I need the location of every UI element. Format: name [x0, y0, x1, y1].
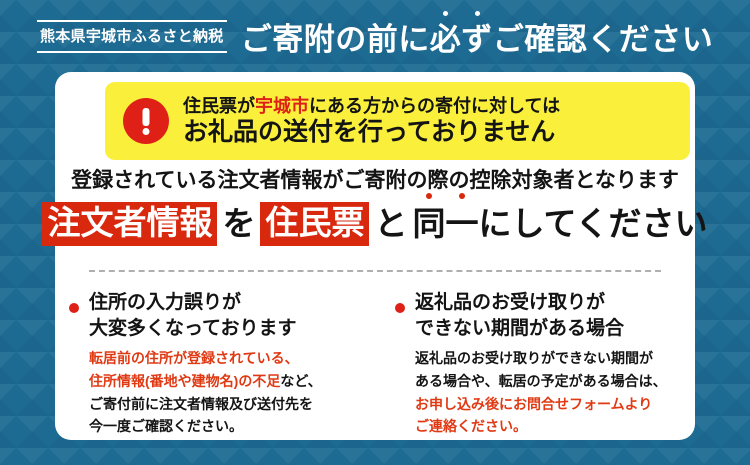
banner-header: 熊本県宇城市ふるさと納税 ご寄附の前に必ずご確認ください [0, 0, 750, 72]
note-text: 転居前の住所が登録されている、 住所情報(番地や建物名)の不足など、 ご寄付前に… [89, 347, 385, 438]
page-title-pre: ご寄附の前に [241, 24, 430, 55]
note-heading-line-2: 大変多くなっております [89, 316, 385, 342]
bullet-dot-icon [395, 303, 405, 313]
alert-line-1-b: にある方からの寄付に対しては [309, 96, 560, 116]
chip-residence-card: 住民票 [260, 202, 369, 246]
content-card: 住民票が宇城市にある方からの寄付に対しては お礼品の送付を行っておりません 登録… [55, 72, 695, 440]
emphasis-dots-icon [430, 11, 493, 16]
note-text-line-1: 転居前の住所が登録されている、 [89, 350, 299, 366]
middle-tail-emphasis-text: 同一 [412, 205, 478, 242]
note-text-line-4: 今一度ご確認ください。 [89, 418, 243, 434]
exclamation-circle-icon [123, 98, 169, 144]
note-text-line-2-suffix: など、 [280, 373, 321, 389]
bullet-dot-icon [69, 303, 79, 313]
page-title-emphasis-text: 必ず [430, 22, 493, 57]
note-heading-line-1: 返礼品のお受け取りが [415, 290, 695, 316]
middle-tail-post: にしてください [478, 204, 707, 244]
alert-line-1: 住民票が宇城市にある方からの寄付に対しては [183, 95, 560, 118]
note-text-line-1: 返礼品のお受け取りができない期間が [415, 350, 653, 366]
notes-columns: 住所の入力誤りが 大変多くなっております 転居前の住所が登録されている、 住所情… [55, 290, 695, 438]
alert-line-1-a: 住民票が [183, 96, 255, 116]
note-column-address: 住所の入力誤りが 大変多くなっております 転居前の住所が登録されている、 住所情… [55, 290, 385, 438]
note-text: 返礼品のお受け取りができない期間が ある場合や、転居の予定がある場合は、 お申し… [415, 347, 695, 438]
brand-block: 熊本県宇城市ふるさと納税 [37, 13, 227, 59]
middle-lead-text: 登録されている注文者情報がご寄附の際の控除対象者となります [55, 168, 695, 193]
middle-section: 登録されている注文者情報がご寄附の際の控除対象者となります 注文者情報を住民票と… [55, 168, 695, 246]
note-heading-line-2: できない期間がある場合 [415, 316, 695, 342]
note-text-line-2: ある場合や、転居の予定がある場合は、 [415, 373, 667, 389]
middle-tail-pre: と [369, 204, 412, 244]
page-title-post: ご確認ください [493, 24, 714, 55]
note-body: 返礼品のお受け取りが できない期間がある場合 返礼品のお受け取りができない期間が… [415, 290, 695, 438]
alert-text-block: 住民票が宇城市にある方からの寄付に対しては お礼品の送付を行っておりません [183, 95, 560, 148]
note-body: 住所の入力誤りが 大変多くなっております 転居前の住所が登録されている、 住所情… [89, 290, 385, 438]
brand-rule-bottom [37, 51, 227, 53]
alert-box: 住民票が宇城市にある方からの寄付に対しては お礼品の送付を行っておりません [105, 82, 690, 160]
note-text-line-3: ご寄付前に注文者情報及び送付先を [89, 396, 313, 412]
middle-connector: を [217, 204, 260, 244]
middle-tail-emphasis: 同一 [412, 204, 478, 244]
emphasis-dots-icon [412, 193, 478, 199]
page-title-emphasis: 必ず [430, 24, 493, 55]
section-divider [89, 270, 661, 272]
middle-emphasis-line: 注文者情報を住民票と同一にしてください [55, 202, 695, 246]
chip-orderer-info: 注文者情報 [42, 202, 217, 246]
note-text-line-2: 住所情報(番地や建物名)の不足 [89, 373, 280, 389]
note-heading-line-1: 住所の入力誤りが [89, 290, 385, 316]
note-column-delivery: 返礼品のお受け取りが できない期間がある場合 返礼品のお受け取りができない期間が… [385, 290, 695, 438]
note-text-line-3: お申し込み後にお問合せフォームより [415, 396, 652, 412]
alert-line-2: お礼品の送付を行っておりません [183, 117, 560, 147]
alert-line-1-highlight: 宇城市 [255, 96, 309, 116]
brand-label: 熊本県宇城市ふるさと納税 [40, 22, 224, 51]
promo-banner: 熊本県宇城市ふるさと納税 ご寄附の前に必ずご確認ください 住民票が宇城市にある方… [0, 0, 750, 465]
page-title: ご寄附の前に必ずご確認ください [241, 18, 714, 55]
note-text-line-4: ご連絡ください。 [415, 418, 527, 434]
